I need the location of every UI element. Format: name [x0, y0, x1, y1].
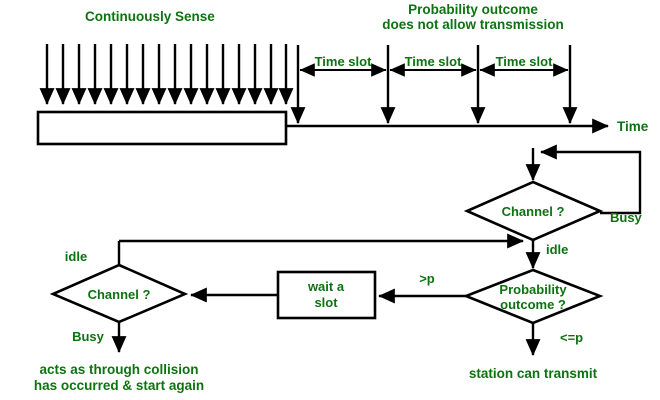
station-can-transmit-label: station can transmit [469, 366, 598, 381]
channel2-idle-label: idle [65, 249, 87, 264]
time-axis-label: Time [617, 119, 649, 134]
probability-outcome-note-line1: Probability outcome [408, 2, 538, 17]
time-slot-label-1: Time slot [315, 54, 373, 69]
channel1-busy-label: Busy [610, 210, 643, 225]
channel1-label: Channel ? [502, 204, 565, 219]
channel2-label: Channel ? [88, 287, 151, 302]
channel1-idle-label: idle [546, 242, 568, 257]
continuously-sense-label: Continuously Sense [85, 9, 215, 24]
sense-block-rect [38, 112, 286, 144]
wait-a-slot-label-line2: slot [314, 295, 338, 310]
time-slot-label-3: Time slot [496, 54, 554, 69]
diagram-canvas: Continuously Sense Probability outcome d… [0, 0, 660, 400]
wait-a-slot-label-line1: wait a [307, 279, 345, 294]
probability-less-equal-p-label: <=p [560, 330, 583, 345]
protocol-diagram: Continuously Sense Probability outcome d… [0, 0, 660, 400]
probability-label-line2: outcome ? [500, 297, 566, 312]
probability-greater-p-label: >p [419, 271, 435, 286]
probability-outcome-note-line2: does not allow transmission [382, 17, 564, 32]
collision-label-line1: acts as through collision [39, 362, 198, 377]
probability-label-line1: Probability [499, 282, 567, 297]
collision-label-line2: has occurred & start again [34, 378, 204, 393]
continuous-sense-arrows [47, 44, 286, 104]
channel2-busy-label: Busy [72, 329, 105, 344]
time-slot-label-2: Time slot [405, 54, 463, 69]
